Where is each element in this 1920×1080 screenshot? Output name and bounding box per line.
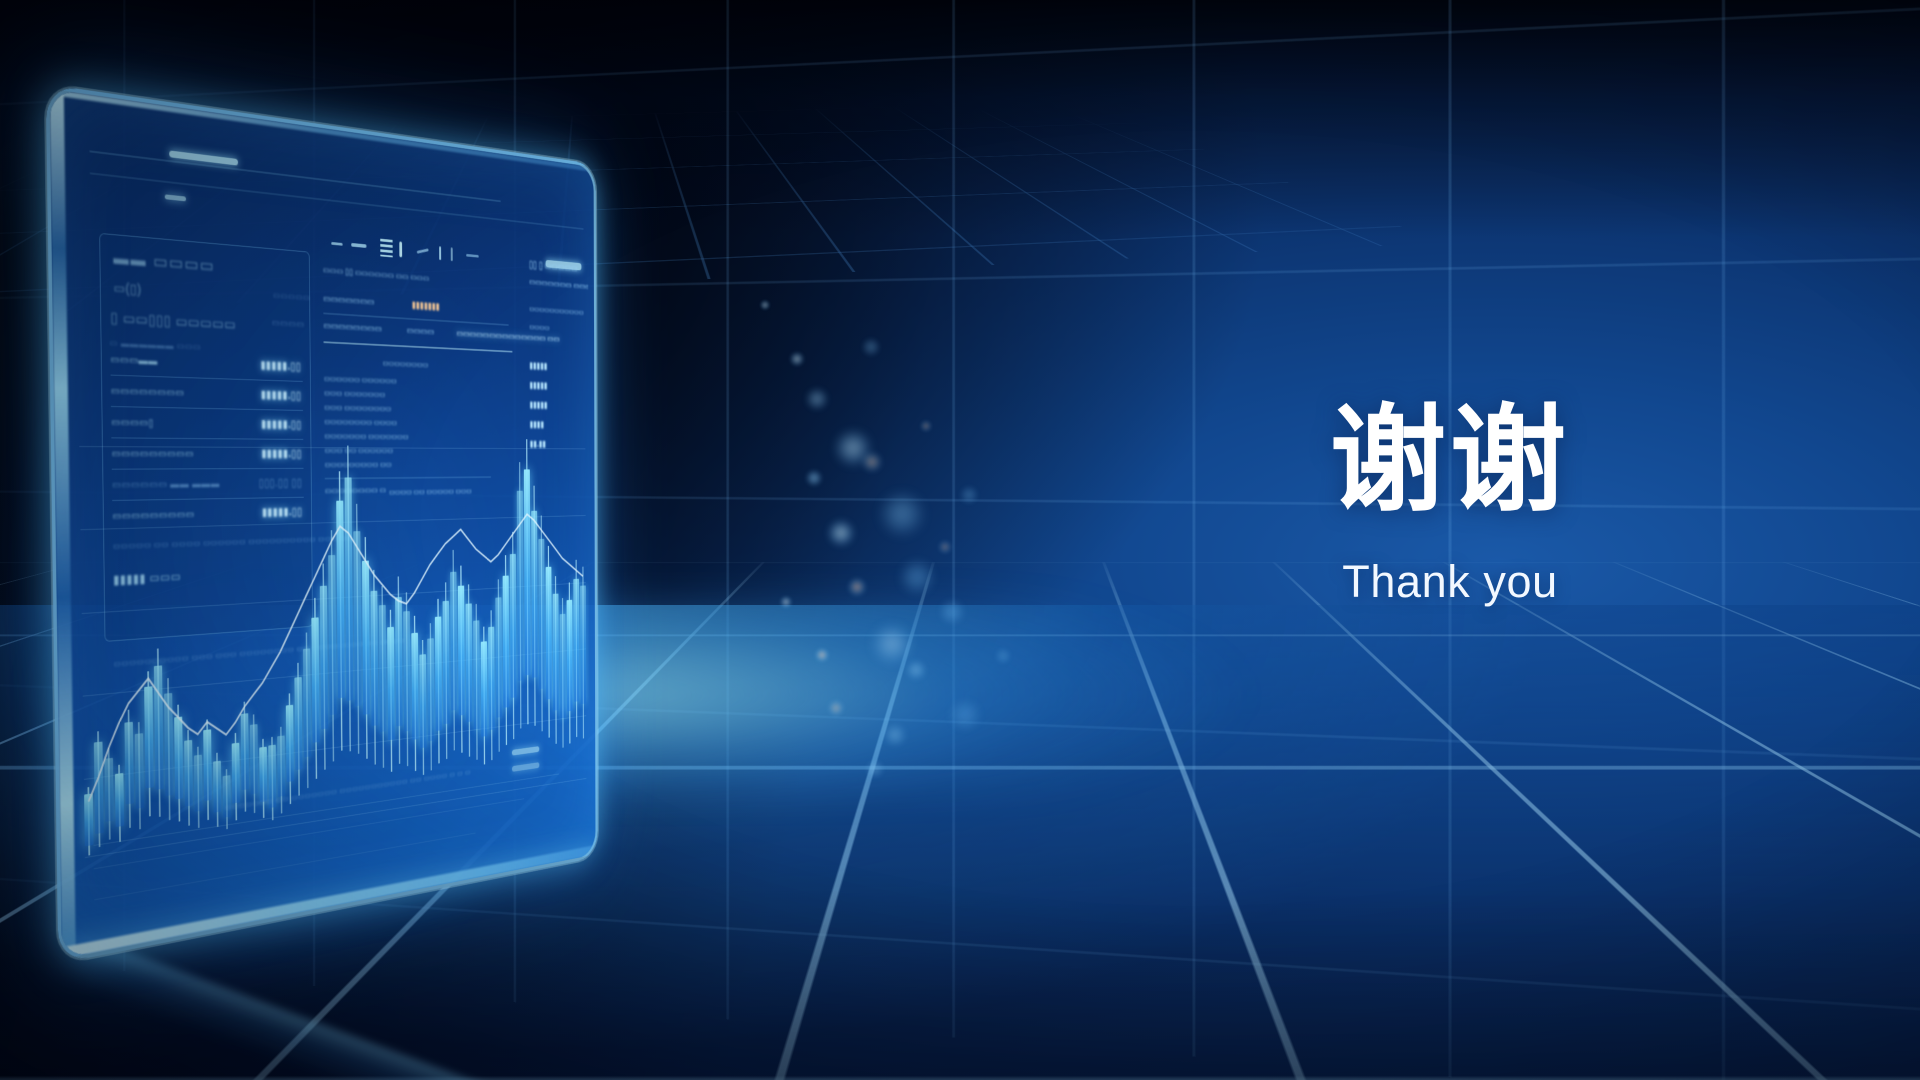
mid-list-item: ▭▭▭▭▭▭ ▭▭▭▭▭▭ xyxy=(324,374,397,386)
mid-top-row: ▭▭▭ ▯▯ ▭▭▭▭▭▭ ▭▭ ▭▭▭ xyxy=(323,266,429,284)
hud-small-dash xyxy=(165,194,186,201)
stat-value: ▮▮▮▮▮.▯▯ xyxy=(261,388,302,402)
right-sub-2: ▭▭▭▭ xyxy=(529,322,549,332)
stat-value: ▮▮▮▮▮.▯▯ xyxy=(260,358,301,372)
hud-rule-1 xyxy=(89,150,500,202)
stat-label: ▭▭▭▭▭▭▭▭ xyxy=(111,384,185,399)
mid-chart-caption: ▭▭▭▭▭▭▭▭ xyxy=(382,358,428,369)
right-axis-label: ▮▮▮▮▮ xyxy=(529,360,547,371)
right-axis-label: ▮▮▮▮▮ xyxy=(529,380,547,391)
slide-canvas: ▬▬ ▭▭▭▭ ▭(▯) ▯ ▭▭▯▯▯ ▭▭▭▭▭ ▭▭▭▭▭ ▭▭▭▭ ▭ … xyxy=(0,0,1920,1080)
stat-label: ▭▭▭▬▬ xyxy=(110,353,158,368)
right-heading-1: ▯▯ ▯ ▭▭▭▭▭ xyxy=(529,258,578,274)
right-axis-label: ▮▮▮▮▮ xyxy=(530,399,548,410)
holographic-display-panel: ▬▬ ▭▭▭▭ ▭(▯) ▯ ▭▭▯▯▯ ▭▭▭▭▭ ▭▭▭▭▭ ▭▭▭▭ ▭ … xyxy=(46,84,598,964)
mid-row-b-label: ▭▭▭▭▭▭▭▭ xyxy=(323,320,382,335)
mid-list-item: ▭▭▭ ▭▭▭▭▭▭▭ xyxy=(324,388,385,399)
panel-screen: ▬▬ ▭▭▭▭ ▭(▯) ▯ ▭▭▯▯▯ ▭▭▭▭▭ ▭▭▭▭▭ ▭▭▭▭ ▭ … xyxy=(66,107,590,942)
right-sub-1: ▭▭▭▭▭▭▭▭▭▭▭ xyxy=(529,304,583,317)
right-heading-2: ▭▭▭▭▭▭▭ ▭▭▭▭▭▭▭▭ xyxy=(529,276,590,294)
mid-row-a-value: ▮▮▮▮▮▮▮ xyxy=(412,299,440,312)
mid-list-item: ▭▭▭ ▭▭▭▭▭▭▭▭ xyxy=(324,402,391,413)
mid-row-a-label: ▭▭▭▭▭▭▭ xyxy=(323,293,374,308)
stat-row: ▭▭▭▭▭▭▭▭ ▮▮▮▮▮.▯▯ xyxy=(111,380,303,410)
mid-row-b-value: ▭▭▭▭ xyxy=(407,325,435,338)
